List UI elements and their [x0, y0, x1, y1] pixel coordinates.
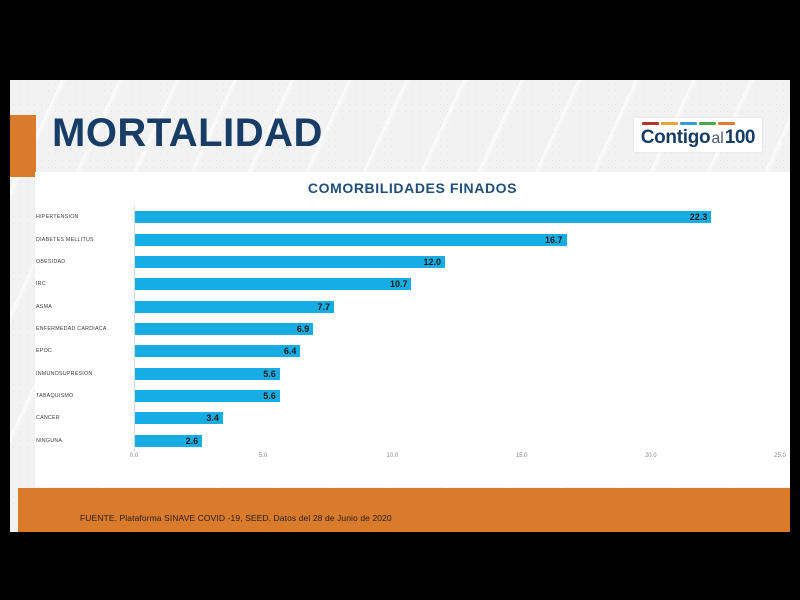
footer-band: FUENTE. Plataforma SINAVE COVID -19, SEE…	[18, 488, 790, 532]
bar-row: HIPERTENSION22.3	[134, 206, 780, 228]
title-accent-block	[10, 115, 36, 177]
bar-row: ENFERMEDAD CARDIACA6.9	[134, 318, 780, 340]
logo-color-bar-3	[680, 122, 697, 125]
bar: 6.4	[135, 345, 300, 357]
bar-value-label: 16.7	[545, 235, 563, 245]
category-label: IRC	[36, 281, 126, 287]
bar-row: INMUNOSUPRESION5.6	[134, 363, 780, 385]
category-label: NINGUNA	[36, 438, 126, 444]
bar-row: CANCER3.4	[134, 407, 780, 429]
bar: 5.6	[135, 390, 280, 402]
logo-word-contigo: Contigo	[641, 128, 711, 147]
category-label: HIPERTENSION	[36, 214, 126, 220]
chart-title: COMORBILIDADES FINADOS	[35, 180, 790, 196]
category-label: EPOC	[36, 348, 126, 354]
bar-row: TABAQUISMO5.6	[134, 385, 780, 407]
chart-panel: COMORBILIDADES FINADOS HIPERTENSION22.3D…	[35, 172, 790, 487]
bar-value-label: 3.4	[206, 413, 219, 423]
bar-value-label: 6.9	[297, 324, 310, 334]
logo-color-bar-5	[718, 122, 735, 125]
bar: 2.6	[135, 435, 202, 447]
category-label: DIABETES MELLITUS	[36, 237, 126, 243]
bar: 3.4	[135, 412, 223, 424]
screenshot-root: MORTALIDAD Contigo al 100 COMORBILIDADES…	[0, 0, 800, 600]
source-note: FUENTE. Plataforma SINAVE COVID -19, SEE…	[80, 513, 392, 523]
bar-row: NINGUNA2.6	[134, 430, 780, 452]
bar-value-label: 12.0	[424, 257, 442, 267]
x-axis-tick-label: 5.0	[259, 453, 267, 459]
bar-value-label: 5.6	[263, 369, 276, 379]
logo-wordmark: Contigo al 100	[641, 128, 755, 147]
page-title: MORTALIDAD	[52, 113, 323, 153]
bar: 5.6	[135, 368, 280, 380]
bar-row: IRC10.7	[134, 273, 780, 295]
bar: 7.7	[135, 301, 334, 313]
x-axis: 0.05.010.015.020.025.0	[134, 453, 780, 467]
bar-value-label: 10.7	[390, 279, 408, 289]
x-axis-tick-label: 10.0	[387, 453, 399, 459]
bar-row: DIABETES MELLITUS16.7	[134, 228, 780, 250]
bar-value-label: 22.3	[690, 212, 708, 222]
bar: 10.7	[135, 278, 411, 290]
presentation-slide: MORTALIDAD Contigo al 100 COMORBILIDADES…	[10, 80, 790, 532]
bar-row: EPOC6.4	[134, 340, 780, 362]
bar-row: OBESIDAD12.0	[134, 251, 780, 273]
logo-color-bar-1	[642, 122, 659, 125]
bar: 6.9	[135, 323, 313, 335]
bar-value-label: 2.6	[186, 436, 199, 446]
logo-color-bars	[641, 122, 755, 125]
bar: 16.7	[135, 234, 567, 246]
x-axis-tick-label: 15.0	[516, 453, 528, 459]
x-axis-tick-label: 20.0	[645, 453, 657, 459]
category-label: ENFERMEDAD CARDIACA	[36, 326, 126, 332]
bar-chart-plot: HIPERTENSION22.3DIABETES MELLITUS16.7OBE…	[134, 206, 780, 452]
logo-word-al: al	[711, 131, 723, 147]
category-label: INMUNOSUPRESION	[36, 371, 126, 377]
category-label: TABAQUISMO	[36, 393, 126, 399]
bar: 22.3	[135, 211, 711, 223]
bar-value-label: 5.6	[263, 391, 276, 401]
x-axis-tick-label: 25.0	[774, 453, 786, 459]
contigo-al-100-logo: Contigo al 100	[634, 118, 762, 152]
category-label: ASMA	[36, 304, 126, 310]
category-label: OBESIDAD	[36, 259, 126, 265]
logo-color-bar-4	[699, 122, 716, 125]
category-label: CANCER	[36, 415, 126, 421]
logo-color-bar-2	[661, 122, 678, 125]
x-axis-tick-label: 0.0	[130, 453, 138, 459]
logo-word-100: 100	[725, 128, 755, 147]
bar-row: ASMA7.7	[134, 295, 780, 317]
bar-value-label: 6.4	[284, 346, 297, 356]
bar: 12.0	[135, 256, 445, 268]
bar-value-label: 7.7	[317, 302, 330, 312]
